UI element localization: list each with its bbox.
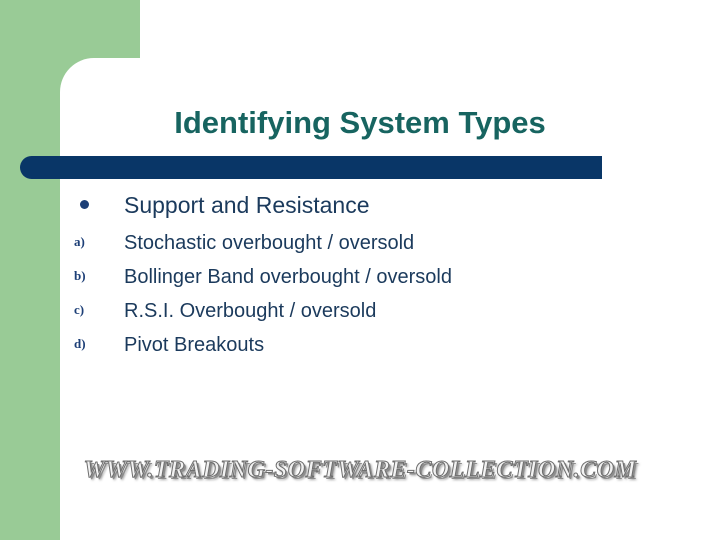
presentation-slide: Identifying System Types Support and Res… bbox=[0, 0, 720, 540]
list-item-label: Bollinger Band overbought / oversold bbox=[124, 264, 690, 291]
list-item-label: Support and Resistance bbox=[124, 190, 690, 220]
list-item: d) Pivot Breakouts bbox=[70, 332, 690, 366]
slide-body-list: Support and Resistance a) Stochastic ove… bbox=[70, 190, 690, 366]
list-marker-d: d) bbox=[74, 336, 120, 352]
list-marker-a: a) bbox=[74, 234, 120, 250]
title-underline-bar bbox=[20, 156, 602, 179]
list-item: a) Stochastic overbought / oversold bbox=[70, 230, 690, 264]
list-marker-c: c) bbox=[74, 302, 120, 318]
slide-title: Identifying System Types bbox=[60, 104, 660, 142]
watermark-text: WWW.TRADING-SOFTWARE-COLLECTION.COM bbox=[0, 457, 720, 484]
list-item-label: R.S.I. Overbought / oversold bbox=[124, 298, 690, 325]
list-item: c) R.S.I. Overbought / oversold bbox=[70, 298, 690, 332]
list-item-label: Pivot Breakouts bbox=[124, 332, 690, 359]
list-item-label: Stochastic overbought / oversold bbox=[124, 230, 690, 257]
list-item: b) Bollinger Band overbought / oversold bbox=[70, 264, 690, 298]
bullet-dot-icon bbox=[70, 196, 116, 211]
decor-green-top-block bbox=[0, 0, 140, 60]
list-item: Support and Resistance bbox=[70, 190, 690, 230]
list-marker-b: b) bbox=[74, 268, 120, 284]
